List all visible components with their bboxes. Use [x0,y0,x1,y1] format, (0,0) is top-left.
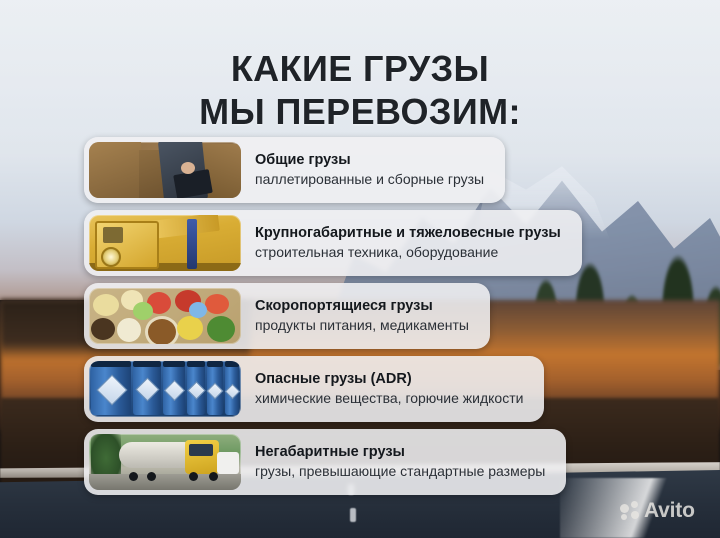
blue-chemical-barrels-photo [89,361,241,417]
list-item-text: Крупногабаритные и тяжеловесные грузы ст… [241,224,577,261]
fresh-food-produce-photo [89,288,241,344]
list-item-subtitle: паллетированные и сборные грузы [255,170,484,188]
list-item-subtitle: грузы, превышающие стандартные размеры [255,462,545,480]
list-item-title: Опасные грузы (ADR) [255,370,523,388]
list-item-text: Общие грузы паллетированные и сборные гр… [241,151,500,188]
ad-banner: КАКИЕ ГРУЗЫ МЫ ПЕРЕВОЗИМ: Общие грузы па… [0,0,720,538]
list-item-subtitle: продукты питания, медикаменты [255,316,469,334]
list-item-text: Негабаритные грузы грузы, превышающие ст… [241,443,561,480]
list-item-subtitle: химические вещества, горючие жидкости [255,389,523,407]
page-title-line-2: МЫ ПЕРЕВОЗИМ: [0,91,720,133]
avito-dots-logo-icon [620,501,639,520]
list-item-title: Скоропортящиеся грузы [255,297,469,315]
avito-watermark: Avito [620,500,695,521]
list-item[interactable]: Общие грузы паллетированные и сборные гр… [84,137,505,203]
list-item[interactable]: Крупногабаритные и тяжеловесные грузы ст… [84,210,582,276]
cardboard-boxes-worker-photo [89,142,241,198]
avito-brand-label: Avito [644,500,695,521]
list-item-text: Опасные грузы (ADR) химические вещества,… [241,370,539,407]
list-item-title: Общие грузы [255,151,484,169]
road-dash-marking [350,508,356,522]
page-title: КАКИЕ ГРУЗЫ МЫ ПЕРЕВОЗИМ: [0,48,720,133]
list-item[interactable]: Опасные грузы (ADR) химические вещества,… [84,356,544,422]
list-item[interactable]: Негабаритные грузы грузы, превышающие ст… [84,429,566,495]
list-item-subtitle: строительная техника, оборудование [255,243,561,261]
cargo-types-list: Общие грузы паллетированные и сборные гр… [84,137,644,502]
page-title-line-1: КАКИЕ ГРУЗЫ [231,48,489,89]
list-item-title: Негабаритные грузы [255,443,545,461]
oversize-load-truck-photo [89,434,241,490]
yellow-heavy-machinery-photo [89,215,241,271]
list-item-title: Крупногабаритные и тяжеловесные грузы [255,224,561,242]
list-item[interactable]: Скоропортящиеся грузы продукты питания, … [84,283,490,349]
list-item-text: Скоропортящиеся грузы продукты питания, … [241,297,485,334]
